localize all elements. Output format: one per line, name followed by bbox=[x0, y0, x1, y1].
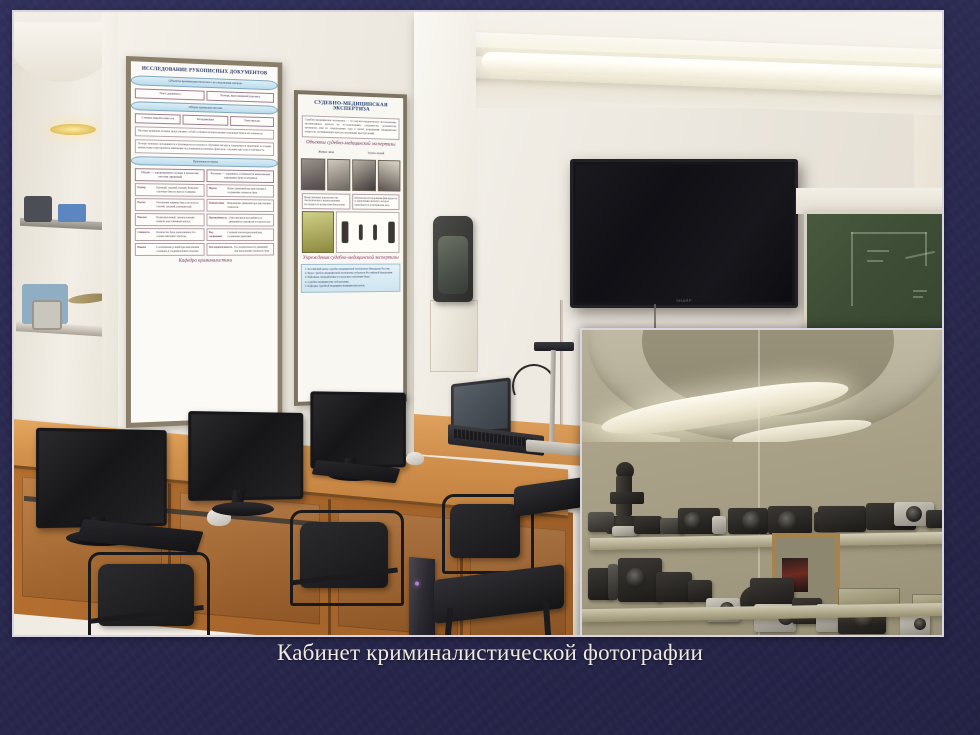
camera-top-shelf bbox=[728, 508, 768, 534]
camera-top-shelf bbox=[926, 510, 942, 528]
poster2-tool bbox=[388, 222, 395, 243]
poster1-paragraph-2: Почерк человека складывается и формирует… bbox=[135, 139, 274, 156]
poster2-tool bbox=[341, 222, 348, 244]
poster1-cell-label: Протяжённость bbox=[209, 217, 227, 224]
poster1-cell: Форма Форма движений при выполнении и со… bbox=[206, 184, 273, 197]
poster1-cell-label: Наклон bbox=[137, 216, 154, 223]
slide-caption: Кабинет криминалистической фотографии bbox=[0, 640, 980, 666]
presentation-slide: ИССЛЕДОВАНИЕ РУКОПИСНЫХ ДОКУМЕНТОВ Объек… bbox=[0, 0, 980, 735]
poster2-specimen-grid bbox=[302, 211, 400, 253]
poster2-photo-strip bbox=[301, 158, 401, 191]
chalk-mark bbox=[867, 260, 883, 262]
shelf-equipment-blue bbox=[58, 204, 86, 222]
camera-lens bbox=[684, 512, 702, 530]
camera-lens bbox=[914, 618, 926, 630]
poster1-column-right: Форма Форма движений при выполнении и со… bbox=[206, 184, 273, 256]
poster2-label: Трупы людей bbox=[352, 149, 399, 157]
poster1-box: Частные — отражают особенности выполнени… bbox=[206, 170, 273, 183]
poster1-detail-grid: Размер Крупный, средний, мелкий. Величин… bbox=[135, 183, 274, 256]
poster1-paragraph-1: Частные признаки почерка представляют со… bbox=[135, 126, 274, 139]
green-chalkboard bbox=[804, 211, 942, 339]
poster1-box-row-1: Текст документа Почерк, выполнивший руко… bbox=[135, 88, 274, 102]
chalk-mark bbox=[905, 251, 935, 259]
poster2-photo bbox=[301, 158, 325, 190]
crt-screen bbox=[438, 236, 468, 294]
poster1-cell-label: Размер bbox=[137, 186, 154, 193]
poster1-cell-label: Связность bbox=[137, 231, 154, 238]
poster2-intro: Судебно-медицинская экспертиза — это нау… bbox=[302, 115, 400, 139]
poster2-section-1: Объекты судебно-медицинской экспертизы bbox=[298, 140, 403, 148]
white-cabinet bbox=[430, 300, 478, 372]
chair-backrest bbox=[450, 504, 520, 558]
camera-lens bbox=[742, 511, 762, 531]
poster1-cell-label: Нажим bbox=[137, 246, 154, 253]
wall-mounted-tv: SHARP bbox=[570, 159, 798, 308]
poster1-cell-text: Крупный, средний, мелкий. Величина строч… bbox=[156, 187, 202, 194]
camera-top-shelf bbox=[634, 516, 662, 534]
poster1-cell: Протяжённость Относительная протяжённост… bbox=[206, 214, 273, 227]
poster1-node-2: Общие признаки письма bbox=[131, 101, 278, 115]
poster1-cell-label: Разгон bbox=[137, 201, 154, 208]
poster2-photo bbox=[377, 160, 400, 192]
poster1-cell-text: Последовательность движений при выполнен… bbox=[234, 246, 271, 253]
laptop-screen bbox=[454, 381, 508, 432]
poster2-tools-col bbox=[336, 212, 399, 254]
power-led-icon bbox=[415, 581, 419, 585]
camera-top-shelf bbox=[768, 506, 812, 534]
camera-lens bbox=[778, 511, 798, 531]
poster1-cell-text: Направление движений при выполнении элем… bbox=[227, 202, 271, 209]
chalk-mark bbox=[913, 296, 923, 298]
poster2-photo bbox=[327, 159, 351, 191]
camera-top-shelf bbox=[818, 506, 866, 532]
chalk-mark bbox=[925, 232, 927, 266]
pc-tower bbox=[409, 557, 435, 635]
poster2-tool-diagram bbox=[336, 212, 399, 254]
poster1-box-row-2: Степень выработанности Координация Темп … bbox=[135, 114, 274, 127]
poster2-tool bbox=[373, 225, 377, 241]
poster2-specimen-image bbox=[302, 211, 334, 253]
poster2-list-item: 5. Кафедры судебной медицины медицинских… bbox=[305, 284, 397, 289]
poster1-cell: Нажим Соотношение усилий при выполнении … bbox=[135, 243, 205, 256]
monitor-screen bbox=[36, 428, 167, 529]
poster1-cell-text: Относительная протяжённость движений по … bbox=[229, 217, 272, 224]
camera-lower-shelf bbox=[608, 564, 618, 600]
poster1-cell: Связность Количество букв, выполненных б… bbox=[135, 228, 205, 241]
chalk-mark bbox=[867, 250, 889, 252]
poster1-box: Общие — характеризуют почерк в целом как… bbox=[135, 169, 205, 183]
poster1-box: Темп письма bbox=[230, 116, 274, 126]
shelf-equipment-dark bbox=[24, 196, 52, 222]
poster1-cell-label: Вид соединения bbox=[209, 231, 225, 238]
poster1-cell: Вид соединения Слитный или интервальный … bbox=[206, 229, 273, 242]
poster1-cell-text: Соотношение усилий при выполнении основн… bbox=[156, 246, 202, 253]
wall-poster-handwriting-analysis: ИССЛЕДОВАНИЕ РУКОПИСНЫХ ДОКУМЕНТОВ Объек… bbox=[126, 56, 282, 428]
poster2-labels: Живые лица Трупы людей bbox=[302, 148, 400, 158]
tv-screen bbox=[576, 165, 792, 302]
poster2-cell: Вещественные доказательства биологическо… bbox=[302, 193, 350, 210]
poster1-cell: Разгон Отношение ширины букв к их высоте… bbox=[135, 198, 205, 211]
inset-photograph bbox=[582, 330, 942, 635]
poster2-photo bbox=[352, 159, 375, 191]
camera-lower-shelf bbox=[656, 572, 692, 602]
poster1-footer: Кафедра криминалистики bbox=[131, 259, 278, 265]
poster1-box: Координация bbox=[183, 115, 228, 125]
poster2-label: Живые лица bbox=[302, 148, 350, 157]
poster1-cell-label: Последовательность bbox=[209, 246, 233, 253]
poster1-cell-text: Правонаклонный, левонаклонный, прямой, н… bbox=[156, 216, 202, 223]
poster1-box: Текст документа bbox=[135, 88, 205, 100]
mouse-2[interactable] bbox=[406, 452, 424, 465]
monitor-screen bbox=[310, 391, 406, 468]
wall-poster-forensic-medicine: СУДЕБНО-МЕДИЦИНСКАЯ ЭКСПЕРТИЗА Судебно-м… bbox=[294, 90, 407, 406]
poster1-cell-text: Форма движений при выполнении и соединен… bbox=[227, 188, 271, 195]
microscope-stage bbox=[610, 492, 644, 504]
shelf-device-metal bbox=[32, 300, 62, 330]
poster1-node-3: Признаки почерка bbox=[131, 156, 278, 168]
monitor-stand-base bbox=[212, 502, 274, 516]
chalk-mark bbox=[851, 232, 927, 234]
monitor-screen bbox=[188, 411, 303, 501]
poster1-cell-label: Направление bbox=[209, 202, 225, 209]
poster2-column-right: Результаты исследования фиксируются в за… bbox=[352, 194, 399, 211]
poster2-cell: Результаты исследования фиксируются в за… bbox=[352, 194, 399, 211]
chalk-mark bbox=[913, 290, 927, 292]
poster1-cell-text: Отношение ширины букв к их высоте: сжаты… bbox=[156, 202, 202, 209]
equipment-item bbox=[588, 512, 614, 532]
poster1-cell-label: Форма bbox=[209, 187, 225, 194]
poster2-specimen-col bbox=[302, 211, 334, 253]
poster1-cell: Последовательность Последовательность дв… bbox=[206, 243, 273, 256]
poster2-title: СУДЕБНО-МЕДИЦИНСКАЯ ЭКСПЕРТИЗА bbox=[300, 100, 401, 114]
poster2-list: 1. Российский центр судебно-медицинской … bbox=[301, 264, 401, 293]
camera-lower-shelf bbox=[900, 614, 930, 635]
poster2-column-left: Вещественные доказательства биологическо… bbox=[302, 193, 350, 210]
poster1-column-left: Размер Крупный, средний, мелкий. Величин… bbox=[135, 183, 205, 256]
camera-top-shelf bbox=[712, 516, 726, 534]
poster2-text-grid: Вещественные доказательства биологическо… bbox=[302, 193, 400, 210]
poster1-cell: Направление Направление движений при вып… bbox=[206, 199, 273, 212]
poster1-cell-text: Количество букв, выполненных без отрыва … bbox=[156, 231, 202, 238]
camera-lens bbox=[626, 568, 646, 588]
alcove-spot-light bbox=[50, 124, 96, 135]
poster1-cell-text: Слитный или интервальный вид соединения … bbox=[227, 231, 271, 238]
poster2-section-3: Учреждения судебно-медицинской экспертиз… bbox=[298, 256, 403, 261]
camera-lens bbox=[906, 506, 922, 522]
poster1-cell: Наклон Правонаклонный, левонаклонный, пр… bbox=[135, 213, 205, 226]
poster1-box: Почерк, выполнивший рукопись bbox=[206, 91, 273, 102]
tv-brand-label: SHARP bbox=[676, 298, 692, 303]
chalk-mark bbox=[851, 232, 853, 306]
poster1-box-row-3: Общие — характеризуют почерк в целом как… bbox=[135, 169, 274, 184]
main-photograph: ИССЛЕДОВАНИЕ РУКОПИСНЫХ ДОКУМЕНТОВ Объек… bbox=[14, 12, 942, 635]
poster2-tool bbox=[359, 225, 363, 241]
poster1-cell: Размер Крупный, средний, мелкий. Величин… bbox=[135, 183, 205, 197]
poster1-box: Степень выработанности bbox=[135, 114, 181, 125]
